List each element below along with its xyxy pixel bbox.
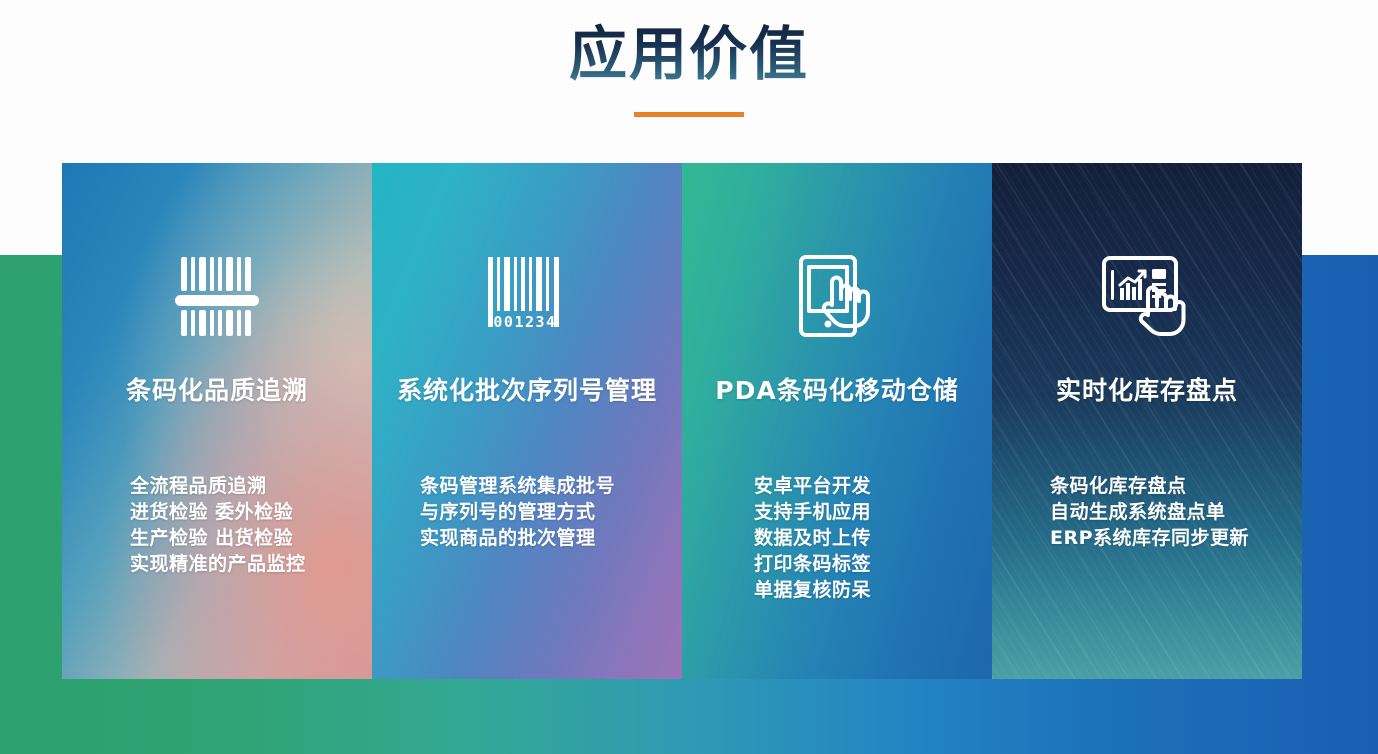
value-cards-row: 条码化品质追溯 全流程品质追溯 进货检验 委外检验 生产检验 出货检验 实现精准… <box>62 163 1302 679</box>
tablet-chart-touch-icon <box>992 251 1302 343</box>
page-header: 应用价值 <box>0 0 1378 163</box>
card-title: 实时化库存盘点 <box>992 371 1302 407</box>
card-title: 条码化品质追溯 <box>62 371 372 407</box>
card-body-text: 条码管理系统集成批号 与序列号的管理方式 实现商品的批次管理 <box>420 473 645 551</box>
title-underline-accent <box>634 112 744 117</box>
card-body-text: 条码化库存盘点 自动生成系统盘点单 ERP系统库存同步更新 <box>1050 473 1270 551</box>
page-title: 应用价值 <box>0 18 1378 90</box>
barcode-number-icon: 001234 <box>372 251 682 343</box>
tablet-touch-icon <box>682 251 992 343</box>
diagonal-streak-overlay <box>992 163 1302 679</box>
barcode-scanner-icon <box>62 251 372 343</box>
value-card-barcode-quality-trace[interactable]: 条码化品质追溯 全流程品质追溯 进货检验 委外检验 生产检验 出货检验 实现精准… <box>62 163 372 679</box>
value-card-batch-serial-management[interactable]: 001234 系统化批次序列号管理 条码管理系统集成批号 与序列号的管理方式 实… <box>372 163 682 679</box>
diagonal-streak-overlay-wide <box>992 163 1302 679</box>
card-body-text: 安卓平台开发 支持手机应用 数据及时上传 打印条码标签 单据复核防呆 <box>754 473 904 603</box>
value-card-realtime-inventory-count[interactable]: 实时化库存盘点 条码化库存盘点 自动生成系统盘点单 ERP系统库存同步更新 <box>992 163 1302 679</box>
barcode-number-text: 001234 <box>493 313 556 331</box>
value-card-pda-mobile-warehouse[interactable]: PDA条码化移动仓储 安卓平台开发 支持手机应用 数据及时上传 打印条码标签 单… <box>682 163 992 679</box>
card-body-text: 全流程品质追溯 进货检验 委外检验 生产检验 出货检验 实现精准的产品监控 <box>130 473 320 577</box>
card-title: 系统化批次序列号管理 <box>372 371 682 407</box>
card-title: PDA条码化移动仓储 <box>682 371 992 407</box>
